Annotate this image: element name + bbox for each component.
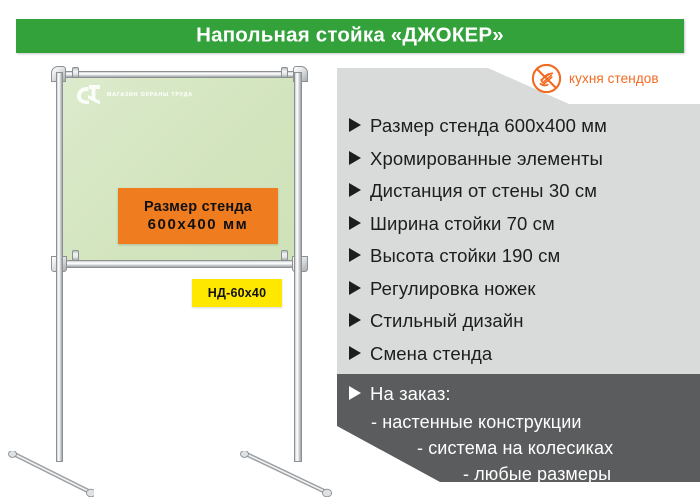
list-item: Смена стенда xyxy=(349,341,694,374)
triangle-right-bullet-icon xyxy=(349,281,361,295)
list-item: Регулировка ножек xyxy=(349,276,694,309)
order-heading: На заказ: xyxy=(370,381,451,407)
frame-post-left xyxy=(56,72,63,462)
order-sub-item: - настенные конструкции xyxy=(371,409,694,435)
frame-top-rail xyxy=(64,71,296,78)
stand-foot-left xyxy=(8,451,94,497)
board-logo-text: МАГАЗИН ОХРАНЫ ТРУДА xyxy=(107,92,193,98)
list-item: Хромированные элементы xyxy=(349,146,694,179)
stand-size-label-line2: 600х400 мм xyxy=(148,216,249,233)
feature-list: Размер стенда 600х400 мм Хромированные э… xyxy=(349,113,694,373)
stand-foot-right xyxy=(240,451,332,497)
order-sub-item: - система на колесиках xyxy=(417,435,694,461)
order-block: На заказ: - настенные конструкции - сист… xyxy=(349,381,694,487)
feature-label: Ширина стойки 70 см xyxy=(370,211,555,237)
frame-clamp-top-right xyxy=(281,67,288,78)
page-title: Напольная стойка «ДЖОКЕР» xyxy=(196,25,504,46)
frame-clamp-top-left xyxy=(72,67,79,78)
feature-label: Смена стенда xyxy=(370,341,492,367)
feature-label: Дистанция от стены 30 см xyxy=(370,178,597,204)
triangle-right-bullet-icon xyxy=(349,183,361,197)
feature-label: Регулировка ножек xyxy=(370,276,536,302)
brand-logo: кухня стендов xyxy=(531,63,659,94)
triangle-right-bullet-icon xyxy=(349,216,361,230)
triangle-right-bullet-icon xyxy=(349,313,361,327)
list-item: Размер стенда 600х400 мм xyxy=(349,113,694,146)
frame-bottom-rail xyxy=(64,260,296,268)
feature-label: Размер стенда 600х400 мм xyxy=(370,113,607,139)
feature-label: Высота стойки 190 см xyxy=(370,243,560,269)
list-item: Дистанция от стены 30 см xyxy=(349,178,694,211)
triangle-right-bullet-icon xyxy=(349,118,361,132)
triangle-right-bullet-icon xyxy=(349,386,361,400)
order-heading-row: На заказ: xyxy=(349,381,694,409)
order-sub-item: - любые размеры xyxy=(463,461,694,487)
board-logo: МАГАЗИН ОХРАНЫ ТРУДА xyxy=(76,80,216,110)
frame-post-right xyxy=(294,72,302,462)
triangle-right-bullet-icon xyxy=(349,248,361,262)
header-bar: Напольная стойка «ДЖОКЕР» xyxy=(16,19,684,53)
stand-code-label: НД-60х40 xyxy=(192,279,282,307)
list-item: Высота стойки 190 см xyxy=(349,243,694,276)
frame-clamp-bottom-right xyxy=(281,250,288,261)
shop-monogram-icon xyxy=(76,83,102,107)
list-item: Ширина стойки 70 см xyxy=(349,211,694,244)
feature-label: Хромированные элементы xyxy=(370,146,603,172)
crossed-out-whisk-icon xyxy=(531,63,562,94)
stand-illustration: МАГАЗИН ОХРАНЫ ТРУДА xyxy=(0,58,336,496)
triangle-right-bullet-icon xyxy=(349,151,361,165)
poster-canvas: Напольная стойка «ДЖОКЕР» МАГАЗИН ОХРАНЫ… xyxy=(0,0,700,496)
stand-code-label-text: НД-60х40 xyxy=(208,286,266,300)
frame-clamp-bottom-left xyxy=(72,250,79,261)
stand-size-label-line1: Размер стенда xyxy=(144,199,252,216)
feature-label: Стильный дизайн xyxy=(370,308,524,334)
stand-size-label: Размер стенда 600х400 мм xyxy=(118,188,278,244)
list-item: Стильный дизайн xyxy=(349,308,694,341)
brand-name: кухня стендов xyxy=(569,71,659,86)
triangle-right-bullet-icon xyxy=(349,346,361,360)
